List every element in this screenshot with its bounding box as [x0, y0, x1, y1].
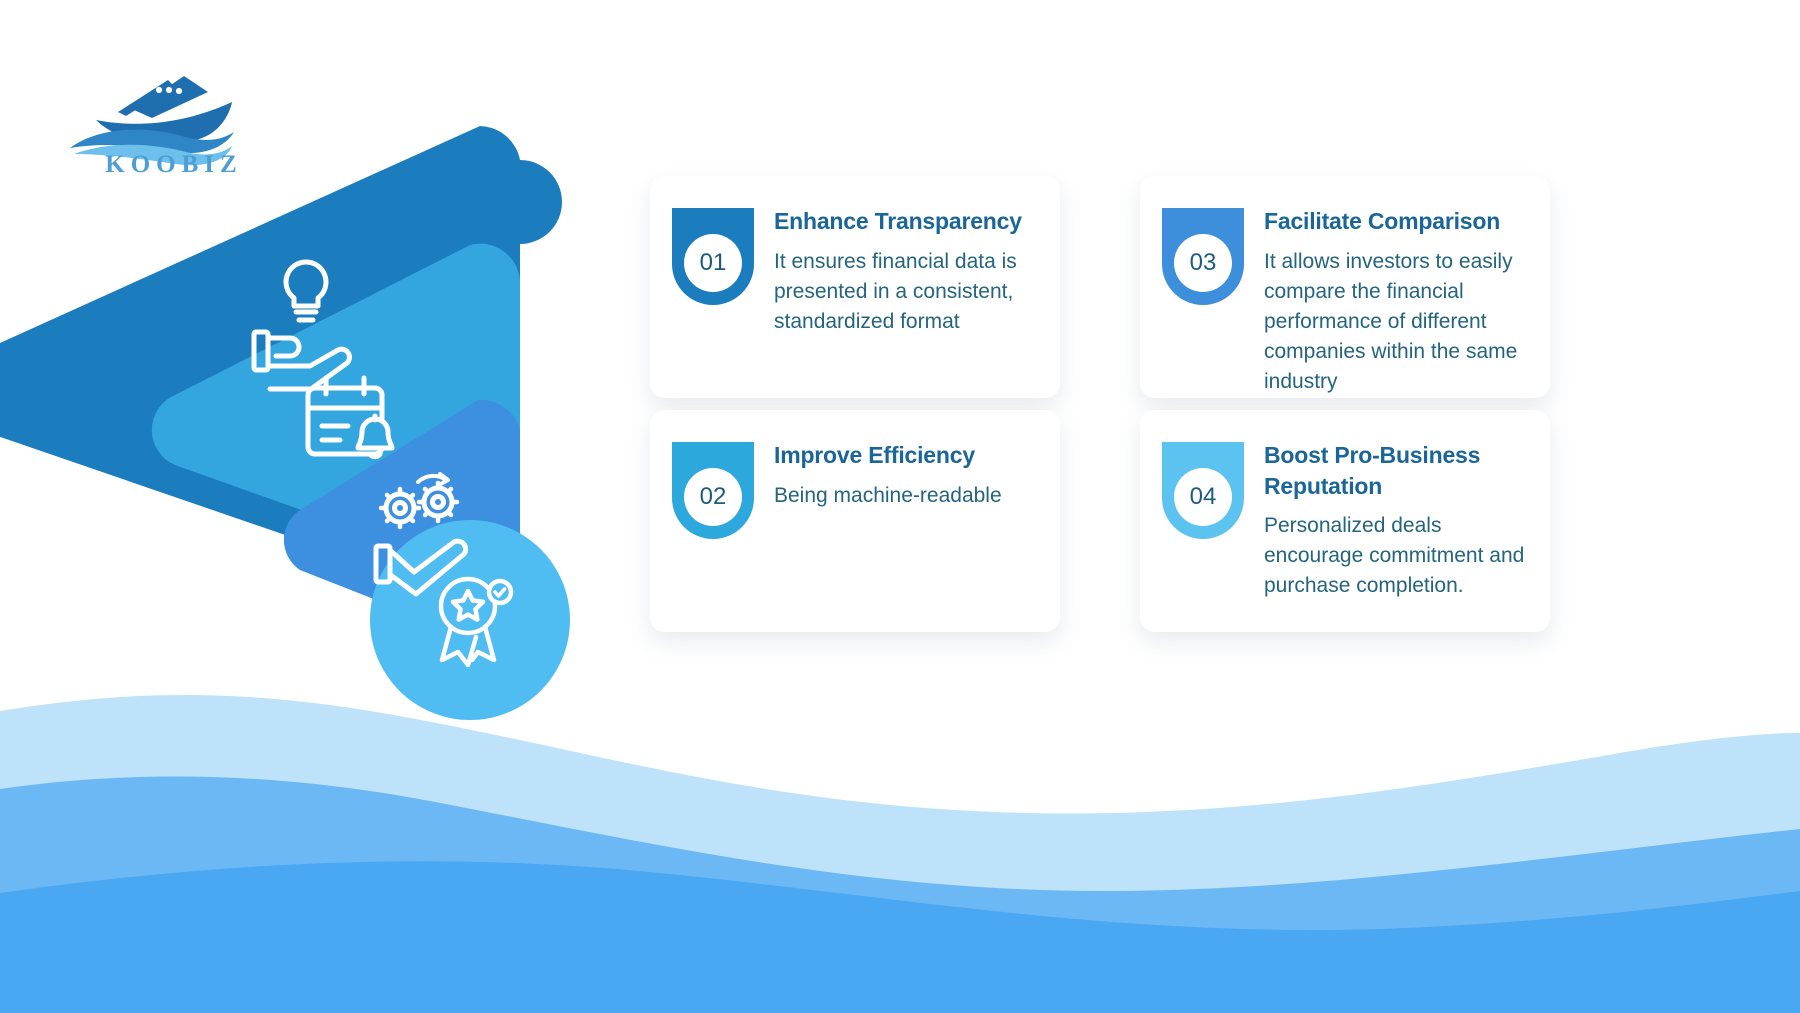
- triangle-layer-circle: [370, 520, 570, 720]
- card-desc-04: Personalized deals encourage commitment …: [1264, 511, 1532, 601]
- card-title-01: Enhance Transparency: [774, 206, 1042, 237]
- card-title-02: Improve Efficiency: [774, 440, 1042, 471]
- badge-number-02: 02: [684, 468, 742, 526]
- badge-04: 04: [1162, 442, 1244, 539]
- card-enhance-transparency[interactable]: 01 Enhance Transparency It ensures finan…: [650, 176, 1060, 398]
- badge-01: 01: [672, 208, 754, 305]
- triangle-layers-graphic: [0, 100, 640, 720]
- card-desc-02: Being machine-readable: [774, 481, 1042, 511]
- wave-mid: [0, 777, 1800, 1013]
- badge-02: 02: [672, 442, 754, 539]
- card-title-04: Boost Pro-Business Reputation: [1264, 440, 1532, 501]
- card-improve-efficiency[interactable]: 02 Improve Efficiency Being machine-read…: [650, 410, 1060, 632]
- wave-light: [0, 695, 1800, 1013]
- card-facilitate-comparison[interactable]: 03 Facilitate Comparison It allows inves…: [1140, 176, 1550, 398]
- connector-arrow-3: [573, 448, 587, 528]
- badge-number-01: 01: [684, 234, 742, 292]
- card-body-02: Improve Efficiency Being machine-readabl…: [774, 410, 1060, 511]
- badge-number-04: 04: [1174, 468, 1232, 526]
- wave-dark: [0, 861, 1800, 1013]
- card-title-03: Facilitate Comparison: [1264, 206, 1532, 237]
- card-desc-03: It allows investors to easily compare th…: [1264, 247, 1532, 397]
- connector-arrow-1: [573, 188, 587, 270]
- card-body-03: Facilitate Comparison It allows investor…: [1264, 176, 1550, 397]
- badge-number-03: 03: [1174, 234, 1232, 292]
- badge-03: 03: [1162, 208, 1244, 305]
- infographic-canvas: KOOBIZ: [0, 0, 1800, 1013]
- card-desc-01: It ensures financial data is presented i…: [774, 247, 1042, 337]
- card-boost-pro-business-reputation[interactable]: 04 Boost Pro-Business Reputation Persona…: [1140, 410, 1550, 632]
- card-body-01: Enhance Transparency It ensures financia…: [774, 176, 1060, 337]
- card-body-04: Boost Pro-Business Reputation Personaliz…: [1264, 410, 1550, 601]
- connector-arrow-2: [573, 320, 587, 400]
